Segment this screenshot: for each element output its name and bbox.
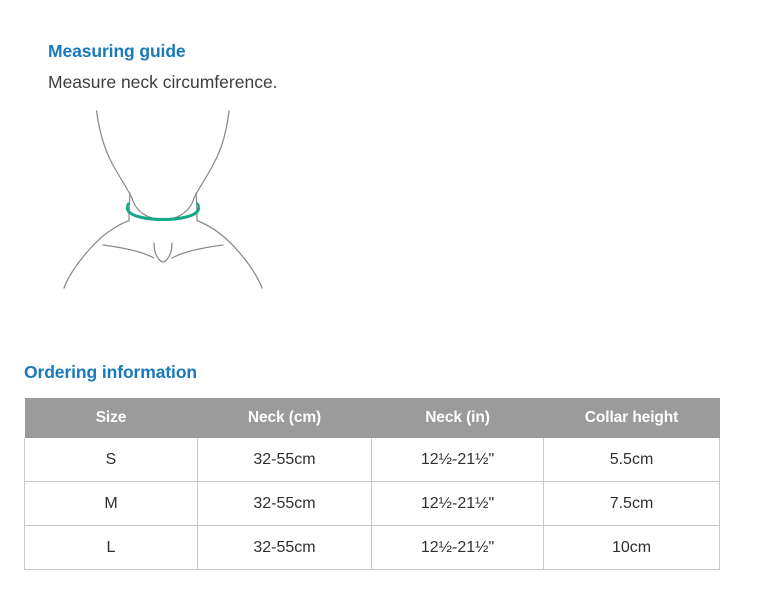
cell-neck-cm: 32-55cm (198, 482, 372, 526)
neck-diagram-svg (30, 105, 300, 290)
cell-size: S (25, 438, 198, 482)
left-clavicle-line (103, 245, 154, 258)
measure-band-right-tip (197, 204, 198, 209)
table-row: M 32-55cm 12½-21½" 7.5cm (25, 482, 720, 526)
left-shoulder-line (64, 221, 128, 288)
table-header-row: Size Neck (cm) Neck (in) Collar height (25, 398, 720, 438)
ordering-information-heading: Ordering information (24, 361, 724, 383)
cell-collar-height: 10cm (544, 526, 720, 570)
table-body: S 32-55cm 12½-21½" 5.5cm M 32-55cm 12½-2… (25, 438, 720, 570)
right-jaw-line (194, 111, 229, 198)
ordering-information-section: Ordering information (24, 361, 724, 383)
right-shoulder-line (198, 221, 262, 288)
neck-measurement-illustration (30, 105, 300, 290)
measuring-guide-heading: Measuring guide (48, 40, 708, 62)
left-jaw-line (97, 111, 133, 198)
left-neck-line (129, 193, 130, 221)
right-neck-line (196, 193, 197, 221)
measure-band-left-tip (127, 204, 128, 209)
table-row: S 32-55cm 12½-21½" 5.5cm (25, 438, 720, 482)
cell-neck-in: 12½-21½" (372, 438, 544, 482)
cell-neck-in: 12½-21½" (372, 526, 544, 570)
cell-neck-in: 12½-21½" (372, 482, 544, 526)
size-ordering-table: Size Neck (cm) Neck (in) Collar height S… (24, 398, 720, 570)
measuring-guide-section: Measuring guide Measure neck circumferen… (48, 40, 708, 94)
measuring-guide-instruction: Measure neck circumference. (48, 70, 708, 94)
column-header-neck-cm: Neck (cm) (198, 398, 372, 438)
sternal-notch (154, 243, 172, 262)
cell-neck-cm: 32-55cm (198, 526, 372, 570)
neck-circumference-measure-band (128, 209, 199, 220)
cell-size: M (25, 482, 198, 526)
column-header-collar-height: Collar height (544, 398, 720, 438)
cell-size: L (25, 526, 198, 570)
column-header-size: Size (25, 398, 198, 438)
cell-neck-cm: 32-55cm (198, 438, 372, 482)
table-row: L 32-55cm 12½-21½" 10cm (25, 526, 720, 570)
column-header-neck-in: Neck (in) (372, 398, 544, 438)
right-clavicle-line (172, 245, 223, 258)
table-header: Size Neck (cm) Neck (in) Collar height (25, 398, 720, 438)
cell-collar-height: 7.5cm (544, 482, 720, 526)
cell-collar-height: 5.5cm (544, 438, 720, 482)
